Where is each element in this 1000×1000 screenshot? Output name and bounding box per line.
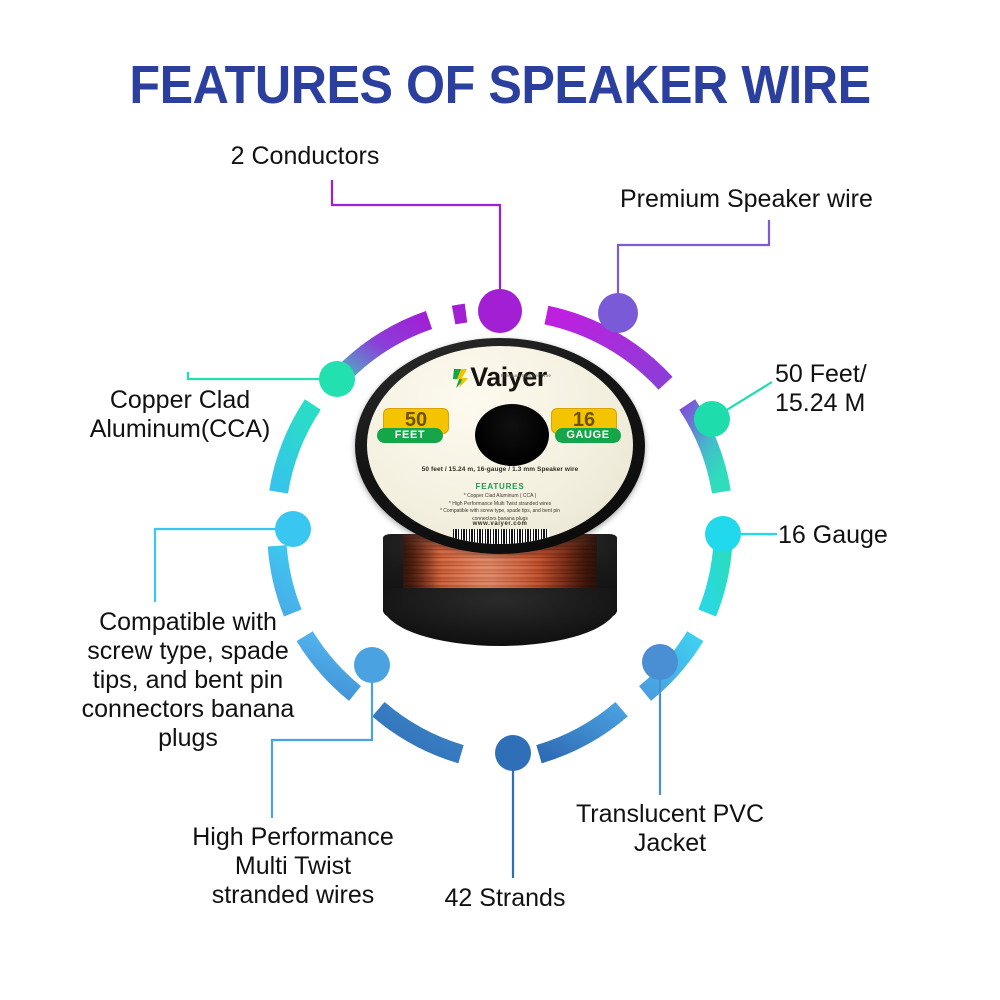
connector-premium: [618, 220, 769, 313]
callout-label-highperf: High Performance Multi Twist stranded wi…: [148, 823, 438, 910]
ring-dot-strands: [495, 735, 531, 771]
product-image-speaker-wire-spool: Vaiyer Premium Speaker Wire 50 FEET 16 G…: [355, 338, 645, 628]
ring-dot-pvc: [642, 644, 678, 680]
callout-label-cca: Copper Clad Aluminum(CCA): [30, 386, 330, 444]
ring-dot-gauge: [705, 516, 741, 552]
connector-cca: [188, 372, 337, 379]
badge-gauge-unit: GAUGE: [555, 428, 621, 443]
barcode-number: 6956825133877: [453, 543, 549, 544]
badge-length-unit: FEET: [377, 428, 443, 443]
connector-conductors: [332, 180, 500, 311]
brand-tagline: Premium Speaker Wire: [393, 373, 633, 378]
callout-label-length: 50 Feet/ 15.24 M: [775, 360, 975, 418]
callout-label-pvc: Translucent PVC Jacket: [540, 800, 800, 858]
callout-label-premium: Premium Speaker wire: [620, 185, 970, 214]
callout-label-strands: 42 Strands: [405, 884, 605, 913]
barcode-icon: [453, 529, 549, 544]
badge-gauge: 16 GAUGE: [551, 408, 617, 443]
ring-dot-conductors: [478, 289, 522, 333]
speaker-wire-infographic: FEATURES OF SPEAKER WIRE: [0, 0, 1000, 1000]
spool-label-disc: Vaiyer Premium Speaker Wire 50 FEET 16 G…: [367, 346, 633, 544]
callout-label-gauge: 16 Gauge: [778, 521, 978, 550]
ring-dot-highperf: [354, 647, 390, 683]
badge-length: 50 FEET: [383, 408, 449, 443]
website-url: www.vaiyer.com: [367, 521, 633, 527]
callout-label-conductors: 2 Conductors: [160, 142, 450, 171]
ring-dot-length: [694, 401, 730, 437]
callout-label-compatible: Compatible with screw type, spade tips, …: [38, 608, 338, 753]
features-heading: FEATURES: [367, 482, 633, 491]
spool-center-hole: [475, 404, 549, 466]
ring-dot-compatible: [275, 511, 311, 547]
ring-dot-premium: [598, 293, 638, 333]
spec-line: 50 feet / 15.24 m, 16-gauge / 1.3 mm Spe…: [367, 466, 633, 473]
features-list: * Copper Clad Aluminum ( CCA ) * High Pe…: [391, 493, 609, 523]
